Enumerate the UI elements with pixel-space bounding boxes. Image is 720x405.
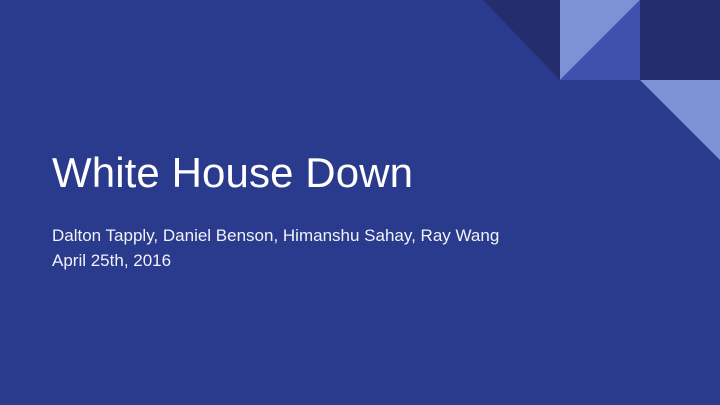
navy-diagonal-wedge-shape [483,0,560,80]
light-lower-right-triangle-shape [640,80,720,160]
presentation-slide: White House Down Dalton Tapply, Daniel B… [0,0,720,405]
navy-corner-block-shape [640,0,720,80]
page-title: White House Down [52,148,652,198]
presentation-date: April 25th, 2016 [52,248,652,273]
subtitle-block: Dalton Tapply, Daniel Benson, Himanshu S… [52,223,652,273]
title-text-block: White House Down Dalton Tapply, Daniel B… [52,148,652,273]
author-list: Dalton Tapply, Daniel Benson, Himanshu S… [52,223,652,248]
